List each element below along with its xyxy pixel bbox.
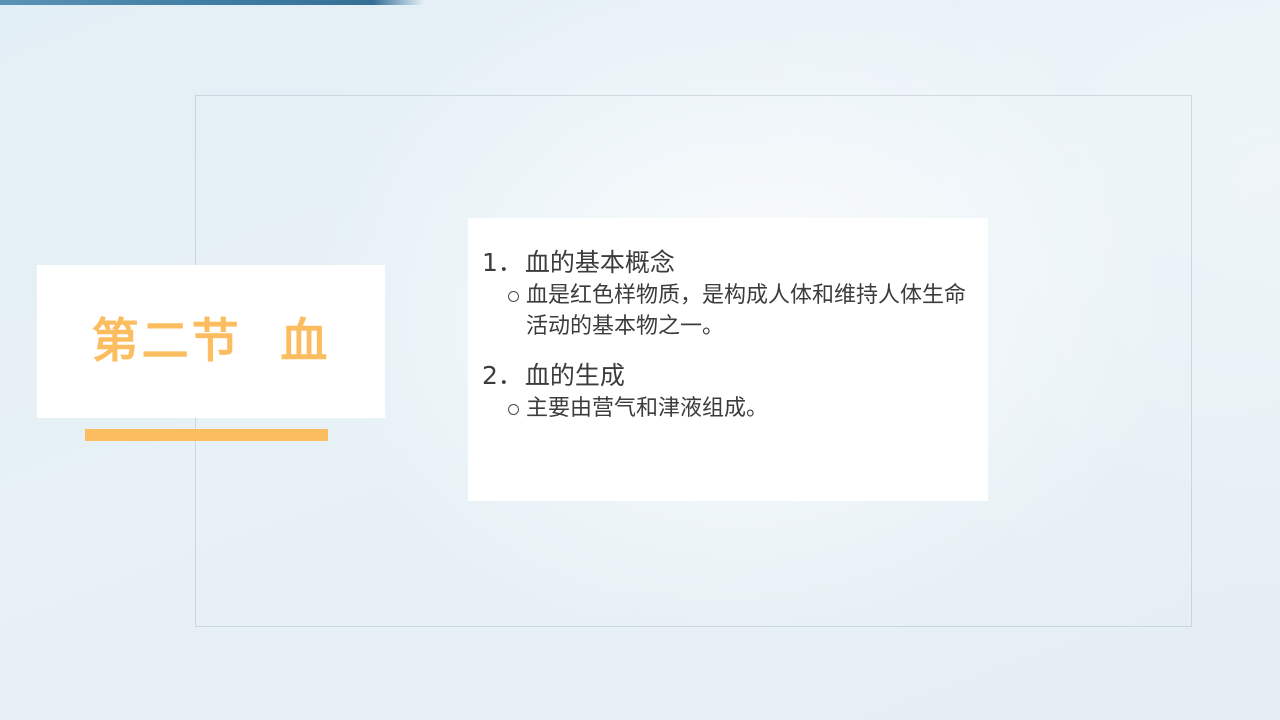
content-card: 1．血的基本概念 血是红色样物质，是构成人体和维持人体生命活动的基本物之一。 2…: [468, 218, 988, 501]
hollow-circle-icon: [508, 404, 519, 415]
slide-title-card: 第二节 血: [37, 265, 385, 418]
group-1-title: 血的基本概念: [525, 248, 675, 277]
top-accent-bar: [0, 0, 424, 5]
list-item: 血是红色样物质，是构成人体和维持人体生命活动的基本物之一。: [482, 281, 970, 343]
hollow-circle-icon: [508, 291, 519, 302]
group-2-heading: 2．血的生成: [482, 359, 970, 392]
group-1-heading: 1．血的基本概念: [482, 246, 970, 279]
content-group-1: 1．血的基本概念 血是红色样物质，是构成人体和维持人体生命活动的基本物之一。: [482, 246, 970, 343]
group-2-number: 2．: [482, 361, 523, 390]
title-underline-bar: [85, 429, 328, 441]
content-group-2: 2．血的生成 主要由营气和津液组成。: [482, 359, 970, 425]
list-item: 主要由营气和津液组成。: [482, 394, 970, 425]
group-1-bullet-list: 血是红色样物质，是构成人体和维持人体生命活动的基本物之一。: [482, 281, 970, 343]
group-2-bullet-1-text: 主要由营气和津液组成。: [526, 394, 970, 425]
group-1-bullet-1-text: 血是红色样物质，是构成人体和维持人体生命活动的基本物之一。: [526, 281, 970, 343]
group-1-number: 1．: [482, 248, 523, 277]
slide-title: 第二节 血: [92, 318, 331, 365]
group-2-title: 血的生成: [525, 361, 625, 390]
group-2-bullet-list: 主要由营气和津液组成。: [482, 394, 970, 425]
presentation-slide: 第二节 血 1．血的基本概念 血是红色样物质，是构成人体和维持人体生命活动的基本…: [0, 0, 1280, 720]
